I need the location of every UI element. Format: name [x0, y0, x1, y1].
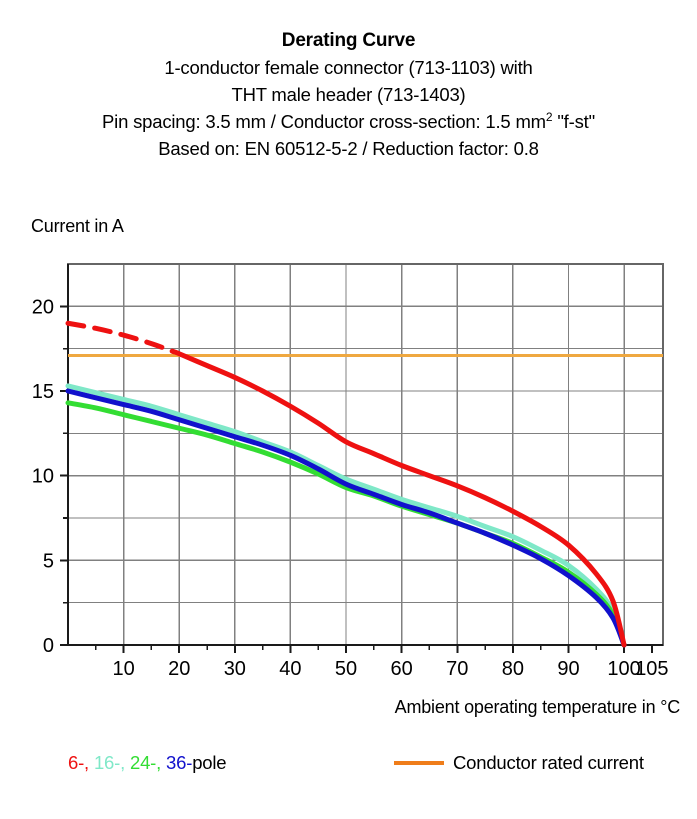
x-axis-tick-label: 90	[557, 658, 579, 680]
x-axis-tick-label: 60	[391, 658, 413, 680]
y-axis-tick-label: 10	[32, 466, 54, 488]
plot-area: 05101520102030405060708090100105	[0, 0, 697, 819]
legend-line-swatch-icon	[394, 761, 444, 765]
legend-pole-suffix: pole	[192, 752, 226, 773]
y-axis-tick-label: 15	[32, 381, 54, 403]
legend-rated-label: Conductor rated current	[453, 752, 644, 773]
x-axis-tick-label: 30	[224, 658, 246, 680]
legend-item-6-pole: 6-,	[68, 752, 89, 773]
legend-item-16-pole: 16-,	[94, 752, 125, 773]
series-line-6-pole-dashed	[68, 323, 174, 351]
derating-curve-page: Derating Curve 1-conductor female connec…	[0, 0, 697, 819]
legend-item-36-pole: 36-	[166, 752, 192, 773]
x-axis-tick-label: 50	[335, 658, 357, 680]
y-axis-tick-label: 0	[43, 635, 54, 657]
derating-chart: 05101520102030405060708090100105	[0, 0, 697, 819]
legend-rated-current: Conductor rated current	[394, 752, 644, 774]
plot-frame	[68, 264, 663, 645]
legend-pole-series: 6-, 16-, 24-, 36-pole	[68, 752, 226, 774]
x-axis-tick-label: 80	[502, 658, 524, 680]
x-axis-tick-label: 105	[635, 658, 668, 680]
x-axis-tick-label: 10	[112, 658, 134, 680]
chart-legend: 6-, 16-, 24-, 36-pole Conductor rated cu…	[0, 752, 697, 786]
legend-item-24-pole: 24-,	[130, 752, 161, 773]
y-axis-tick-label: 5	[43, 550, 54, 572]
x-axis-tick-label: 20	[168, 658, 190, 680]
x-axis-tick-label: 70	[446, 658, 468, 680]
x-axis-tick-label: 40	[279, 658, 301, 680]
y-axis-tick-label: 20	[32, 296, 54, 318]
